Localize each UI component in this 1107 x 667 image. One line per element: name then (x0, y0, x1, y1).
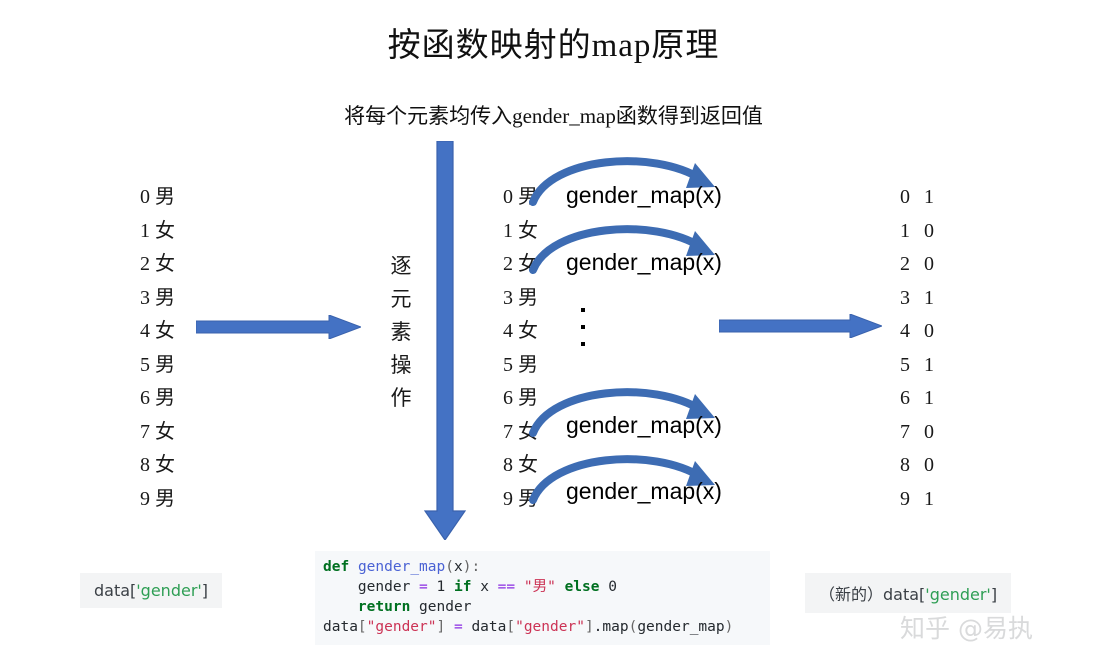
new-column-label: （新的）data['gender'] (805, 573, 1011, 613)
vlabel-char: 素 (388, 316, 414, 349)
row-index: 8 (900, 449, 913, 483)
row-value: 0 (913, 449, 934, 483)
code-operator: = (419, 579, 428, 595)
code-keyword-def: def (323, 559, 349, 575)
row-index: 4 (140, 315, 153, 349)
row-value: 0 (913, 315, 934, 349)
row-index: 6 (140, 382, 153, 416)
row-value: 1 (913, 483, 934, 517)
code-keyword-else: else (565, 579, 600, 595)
vlabel-char: 作 (388, 382, 414, 415)
row-value: 0 (913, 248, 934, 282)
row-index: 4 (900, 315, 913, 349)
row-value: 女 (516, 315, 538, 349)
code-keyword-return: return (358, 599, 410, 615)
pill-prefix: data[ (94, 581, 136, 600)
row-value: 女 (153, 449, 175, 483)
pill-prefix: （新的）data[ (819, 585, 925, 604)
vlabel-char: 元 (388, 283, 414, 316)
list-item: 51 (900, 349, 934, 383)
row-index: 9 (503, 483, 516, 517)
row-index: 8 (503, 449, 516, 483)
arrow-down-icon (420, 141, 470, 540)
list-item: 0男 (140, 181, 175, 215)
list-item: 70 (900, 416, 934, 450)
row-index: 0 (140, 181, 153, 215)
row-index: 4 (503, 315, 516, 349)
function-call-label: gender_map(x) (566, 182, 722, 209)
row-index: 8 (140, 449, 153, 483)
row-value: 0 (913, 215, 934, 249)
row-index: 2 (900, 248, 913, 282)
pill-string: 'gender' (136, 581, 202, 600)
diagram-canvas: 按函数映射的map原理 将每个元素均传入gender_map函数得到返回值 0男… (0, 0, 1107, 667)
code-string: "gender" (515, 619, 585, 635)
list-item: 6男 (140, 382, 175, 416)
code-punct: ] (437, 619, 446, 635)
row-index: 6 (900, 382, 913, 416)
list-item: 8女 (140, 449, 175, 483)
row-index: 1 (900, 215, 913, 249)
row-value: 1 (913, 349, 934, 383)
list-item: 2女 (140, 248, 175, 282)
list-item: 5男 (503, 349, 538, 383)
row-index: 7 (900, 416, 913, 450)
vlabel-char: 逐 (388, 250, 414, 283)
code-snippet: def gender_map(x): gender = 1 if x == "男… (315, 551, 770, 645)
original-gender-series: 0男 1女 2女 3男 4女 5男 6男 7女 8女 9男 (140, 181, 175, 516)
code-var: data (471, 619, 506, 635)
list-item: 1女 (140, 215, 175, 249)
code-arg: x (454, 559, 463, 575)
row-index: 9 (900, 483, 913, 517)
code-operator: = (454, 619, 463, 635)
pill-string: 'gender' (925, 585, 991, 604)
watermark: 知乎 @易执 (900, 609, 1033, 645)
vlabel-char: 操 (388, 349, 414, 382)
row-index: 6 (503, 382, 516, 416)
code-string: "男" (524, 579, 556, 595)
code-var: gender (358, 579, 410, 595)
row-index: 1 (140, 215, 153, 249)
list-item: 91 (900, 483, 934, 517)
function-call-label: gender_map(x) (566, 478, 722, 505)
row-value: 1 (913, 382, 934, 416)
list-item: 10 (900, 215, 934, 249)
pill-suffix: ] (991, 585, 997, 604)
code-punct: [ (506, 619, 515, 635)
list-item: 80 (900, 449, 934, 483)
row-value: 男 (153, 382, 175, 416)
row-value: 男 (153, 181, 175, 215)
code-number: 1 (437, 579, 446, 595)
function-call-label: gender_map(x) (566, 412, 722, 439)
row-index: 2 (140, 248, 153, 282)
row-index: 3 (503, 282, 516, 316)
code-punct: [ (358, 619, 367, 635)
row-value: 女 (153, 416, 175, 450)
mapped-result-series: 01 10 20 31 40 51 61 70 80 91 (900, 181, 934, 516)
row-index: 9 (140, 483, 153, 517)
list-item: 3男 (140, 282, 175, 316)
code-operator: == (498, 579, 515, 595)
code-function-name: gender_map (358, 559, 445, 575)
row-index: 5 (900, 349, 913, 383)
row-index: 2 (503, 248, 516, 282)
code-punct: : (471, 559, 480, 575)
list-item: 4女 (140, 315, 175, 349)
row-index: 3 (140, 282, 153, 316)
row-index: 1 (503, 215, 516, 249)
list-item: 20 (900, 248, 934, 282)
list-item: 01 (900, 181, 934, 215)
row-value: 1 (913, 181, 934, 215)
code-indent (323, 579, 358, 595)
row-value: 1 (913, 282, 934, 316)
vertical-ellipsis-icon (578, 308, 588, 352)
list-item: 9男 (140, 483, 175, 517)
row-index: 0 (503, 181, 516, 215)
list-item: 3男 (503, 282, 538, 316)
code-method: .map (594, 619, 629, 635)
function-call-label: gender_map(x) (566, 249, 722, 276)
list-item: 5男 (140, 349, 175, 383)
row-index: 3 (900, 282, 913, 316)
pill-suffix: ] (202, 581, 208, 600)
arrow-right-icon (719, 314, 882, 338)
code-indent (323, 599, 358, 615)
row-value: 男 (153, 282, 175, 316)
list-item: 61 (900, 382, 934, 416)
row-value: 男 (153, 349, 175, 383)
row-index: 5 (503, 349, 516, 383)
row-value: 女 (153, 248, 175, 282)
row-value: 0 (913, 416, 934, 450)
list-item: 31 (900, 282, 934, 316)
list-item: 7女 (140, 416, 175, 450)
row-index: 5 (140, 349, 153, 383)
original-column-label: data['gender'] (80, 573, 222, 608)
row-value: 男 (516, 349, 538, 383)
code-number: 0 (608, 579, 617, 595)
code-arg: gender_map (637, 619, 724, 635)
code-punct: ) (725, 619, 734, 635)
page-title: 按函数映射的map原理 (0, 18, 1107, 66)
code-string: "gender" (367, 619, 437, 635)
row-value: 男 (153, 483, 175, 517)
code-var: gender (419, 599, 471, 615)
row-value: 女 (153, 315, 175, 349)
arrow-right-icon (196, 315, 361, 339)
code-var: x (480, 579, 489, 595)
page-subtitle: 将每个元素均传入gender_map函数得到返回值 (0, 100, 1107, 130)
code-punct: ( (445, 559, 454, 575)
row-index: 7 (503, 416, 516, 450)
code-keyword-if: if (454, 579, 471, 595)
row-index: 7 (140, 416, 153, 450)
row-value: 女 (153, 215, 175, 249)
per-element-operation-label: 逐 元 素 操 作 (388, 250, 414, 415)
list-item: 40 (900, 315, 934, 349)
list-item: 4女 (503, 315, 538, 349)
code-var: data (323, 619, 358, 635)
row-value: 男 (516, 282, 538, 316)
code-punct: ] (585, 619, 594, 635)
row-index: 0 (900, 181, 913, 215)
